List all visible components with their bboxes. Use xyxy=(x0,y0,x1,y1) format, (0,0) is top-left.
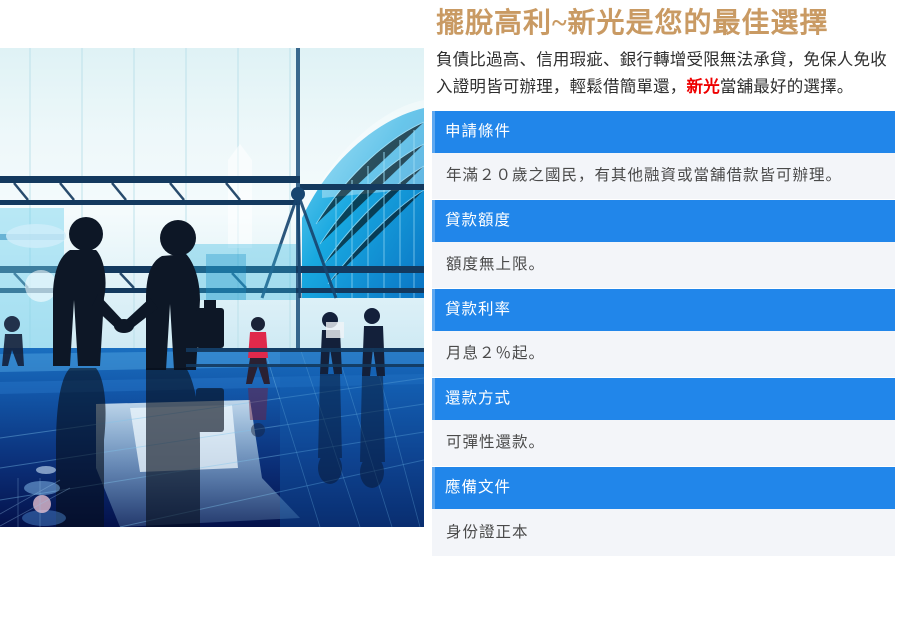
accordion-body-4: 身份證正本 xyxy=(432,509,895,556)
accordion-panel: 應備文件身份證正本 xyxy=(432,467,895,556)
intro-paragraph: 負債比過高、信用瑕疵、銀行轉增受限無法承貸，免保人免收入證明皆可辦理，輕鬆借簡單… xyxy=(432,47,895,100)
accordion-header-4[interactable]: 應備文件 xyxy=(432,467,895,509)
accordion-header-0[interactable]: 申請條件 xyxy=(432,111,895,153)
accordion-body-3: 可彈性還款。 xyxy=(432,420,895,466)
accordion-panel: 還款方式可彈性還款。 xyxy=(432,378,895,466)
accordion: 申請條件年滿２０歲之國民，有其他融資或當舖借款皆可辦理。貸款額度額度無上限。貸款… xyxy=(432,111,895,556)
intro-text-after: 當舖最好的選擇。 xyxy=(720,78,854,96)
page-title: 擺脫高利~新光是您的最佳選擇 xyxy=(432,0,895,41)
hero-image-artwork xyxy=(0,48,424,527)
accordion-body-0: 年滿２０歲之國民，有其他融資或當舖借款皆可辦理。 xyxy=(432,153,895,199)
hero-image xyxy=(0,48,424,527)
accordion-header-1[interactable]: 貸款額度 xyxy=(432,200,895,242)
accordion-panel: 貸款利率月息２％起。 xyxy=(432,289,895,377)
accordion-header-3[interactable]: 還款方式 xyxy=(432,378,895,420)
accordion-panel: 貸款額度額度無上限。 xyxy=(432,200,895,288)
content-column: 擺脫高利~新光是您的最佳選擇 負債比過高、信用瑕疵、銀行轉增受限無法承貸，免保人… xyxy=(432,0,895,557)
accordion-panel: 申請條件年滿２０歲之國民，有其他融資或當舖借款皆可辦理。 xyxy=(432,111,895,199)
accordion-header-2[interactable]: 貸款利率 xyxy=(432,289,895,331)
accordion-body-2: 月息２％起。 xyxy=(432,331,895,377)
intro-highlight-brand: 新光 xyxy=(687,78,720,96)
accordion-body-1: 額度無上限。 xyxy=(432,242,895,288)
